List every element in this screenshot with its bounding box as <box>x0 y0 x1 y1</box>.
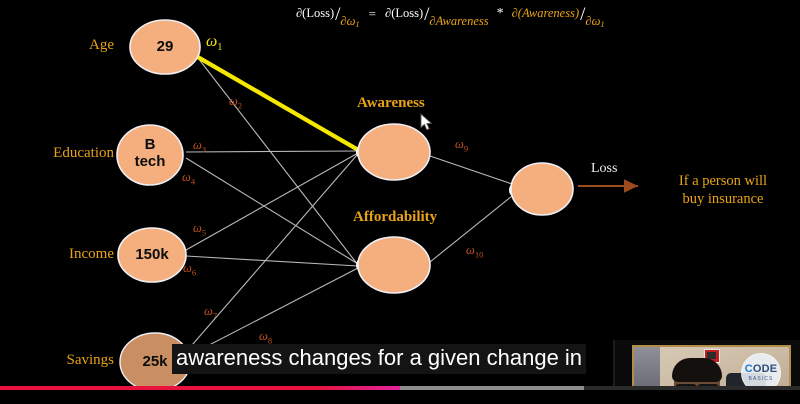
input-label-income: Income <box>36 247 114 263</box>
edge-income-affordability <box>186 256 358 266</box>
weight-label-w1: ω1 <box>206 34 223 53</box>
formula-term2-denominator: ∂Awareness <box>429 14 488 29</box>
node-output[interactable] <box>511 163 573 215</box>
output-outcome-text: If a person will buy insurance <box>653 173 793 208</box>
player-bottom-bar <box>0 390 800 404</box>
formula-equals: = <box>369 6 376 22</box>
input-label-savings: Savings <box>30 353 114 369</box>
video-caption: awareness changes for a given change in <box>172 344 586 374</box>
edge-income-awareness <box>186 153 358 250</box>
node-value-education: B tech <box>120 137 180 171</box>
node-value-age: 29 <box>135 39 195 56</box>
node-value-savings: 25k <box>125 354 185 371</box>
input-nodes <box>117 20 200 391</box>
edge-age-affordability <box>198 58 358 265</box>
formula-term1-numerator: ∂(Loss) <box>296 6 334 21</box>
weight-label-w5: ω5 <box>193 222 206 237</box>
formula-term-2: ∂(Loss) / ∂Awareness <box>385 6 489 22</box>
formula-term3-numerator: ∂(Awareness) <box>512 6 580 21</box>
edge-awareness-output <box>430 156 512 184</box>
edge-education-awareness <box>186 151 358 152</box>
outcome-line-2: buy insurance <box>653 191 793 209</box>
video-frame: ∂(Loss) / ∂ω1 = ∂(Loss) / ∂Awareness * ∂… <box>0 0 800 404</box>
chain-rule-formula: ∂(Loss) / ∂ω1 = ∂(Loss) / ∂Awareness * ∂… <box>296 6 605 22</box>
node-value-income: 150k <box>122 247 182 264</box>
weight-label-w3: ω3 <box>193 139 206 154</box>
weight-label-w9: ω9 <box>455 138 468 153</box>
loss-arrow-label: Loss <box>591 162 617 177</box>
formula-term-1: ∂(Loss) / ∂ω1 <box>296 6 360 22</box>
progress-played <box>0 386 400 390</box>
input-label-age: Age <box>44 38 114 54</box>
weight-label-w4: ω4 <box>182 171 195 186</box>
weight-label-w10: ω10 <box>466 244 483 259</box>
logo-wordmark: CODE <box>745 364 778 375</box>
video-progress-bar[interactable] <box>0 386 800 390</box>
weight-label-w2: ω2 <box>229 95 242 110</box>
node-awareness[interactable] <box>358 124 430 180</box>
formula-term3-denominator: ∂ω1 <box>585 14 604 29</box>
input-label-education: Education <box>32 146 114 162</box>
weight-label-w6: ω6 <box>183 262 196 277</box>
outcome-line-1: If a person will <box>653 173 793 191</box>
hidden-label-affordability: Affordability <box>353 210 437 226</box>
formula-term2-numerator: ∂(Loss) <box>385 6 423 21</box>
logo-subtext: BASICS <box>749 377 774 382</box>
formula-term-3: ∂(Awareness) / ∂ω1 <box>512 6 605 22</box>
mouse-cursor-icon <box>420 113 433 132</box>
node-affordability[interactable] <box>358 237 430 293</box>
hidden-label-awareness: Awareness <box>357 96 425 112</box>
edge-savings-awareness <box>186 155 357 352</box>
edge-age-awareness-highlighted <box>196 56 360 151</box>
formula-term1-denominator: ∂ω1 <box>340 14 359 29</box>
weight-label-w7: ω7 <box>204 305 217 320</box>
edge-education-affordability <box>186 158 358 264</box>
webcam-person-hair <box>672 358 722 382</box>
formula-times: * <box>497 6 504 22</box>
